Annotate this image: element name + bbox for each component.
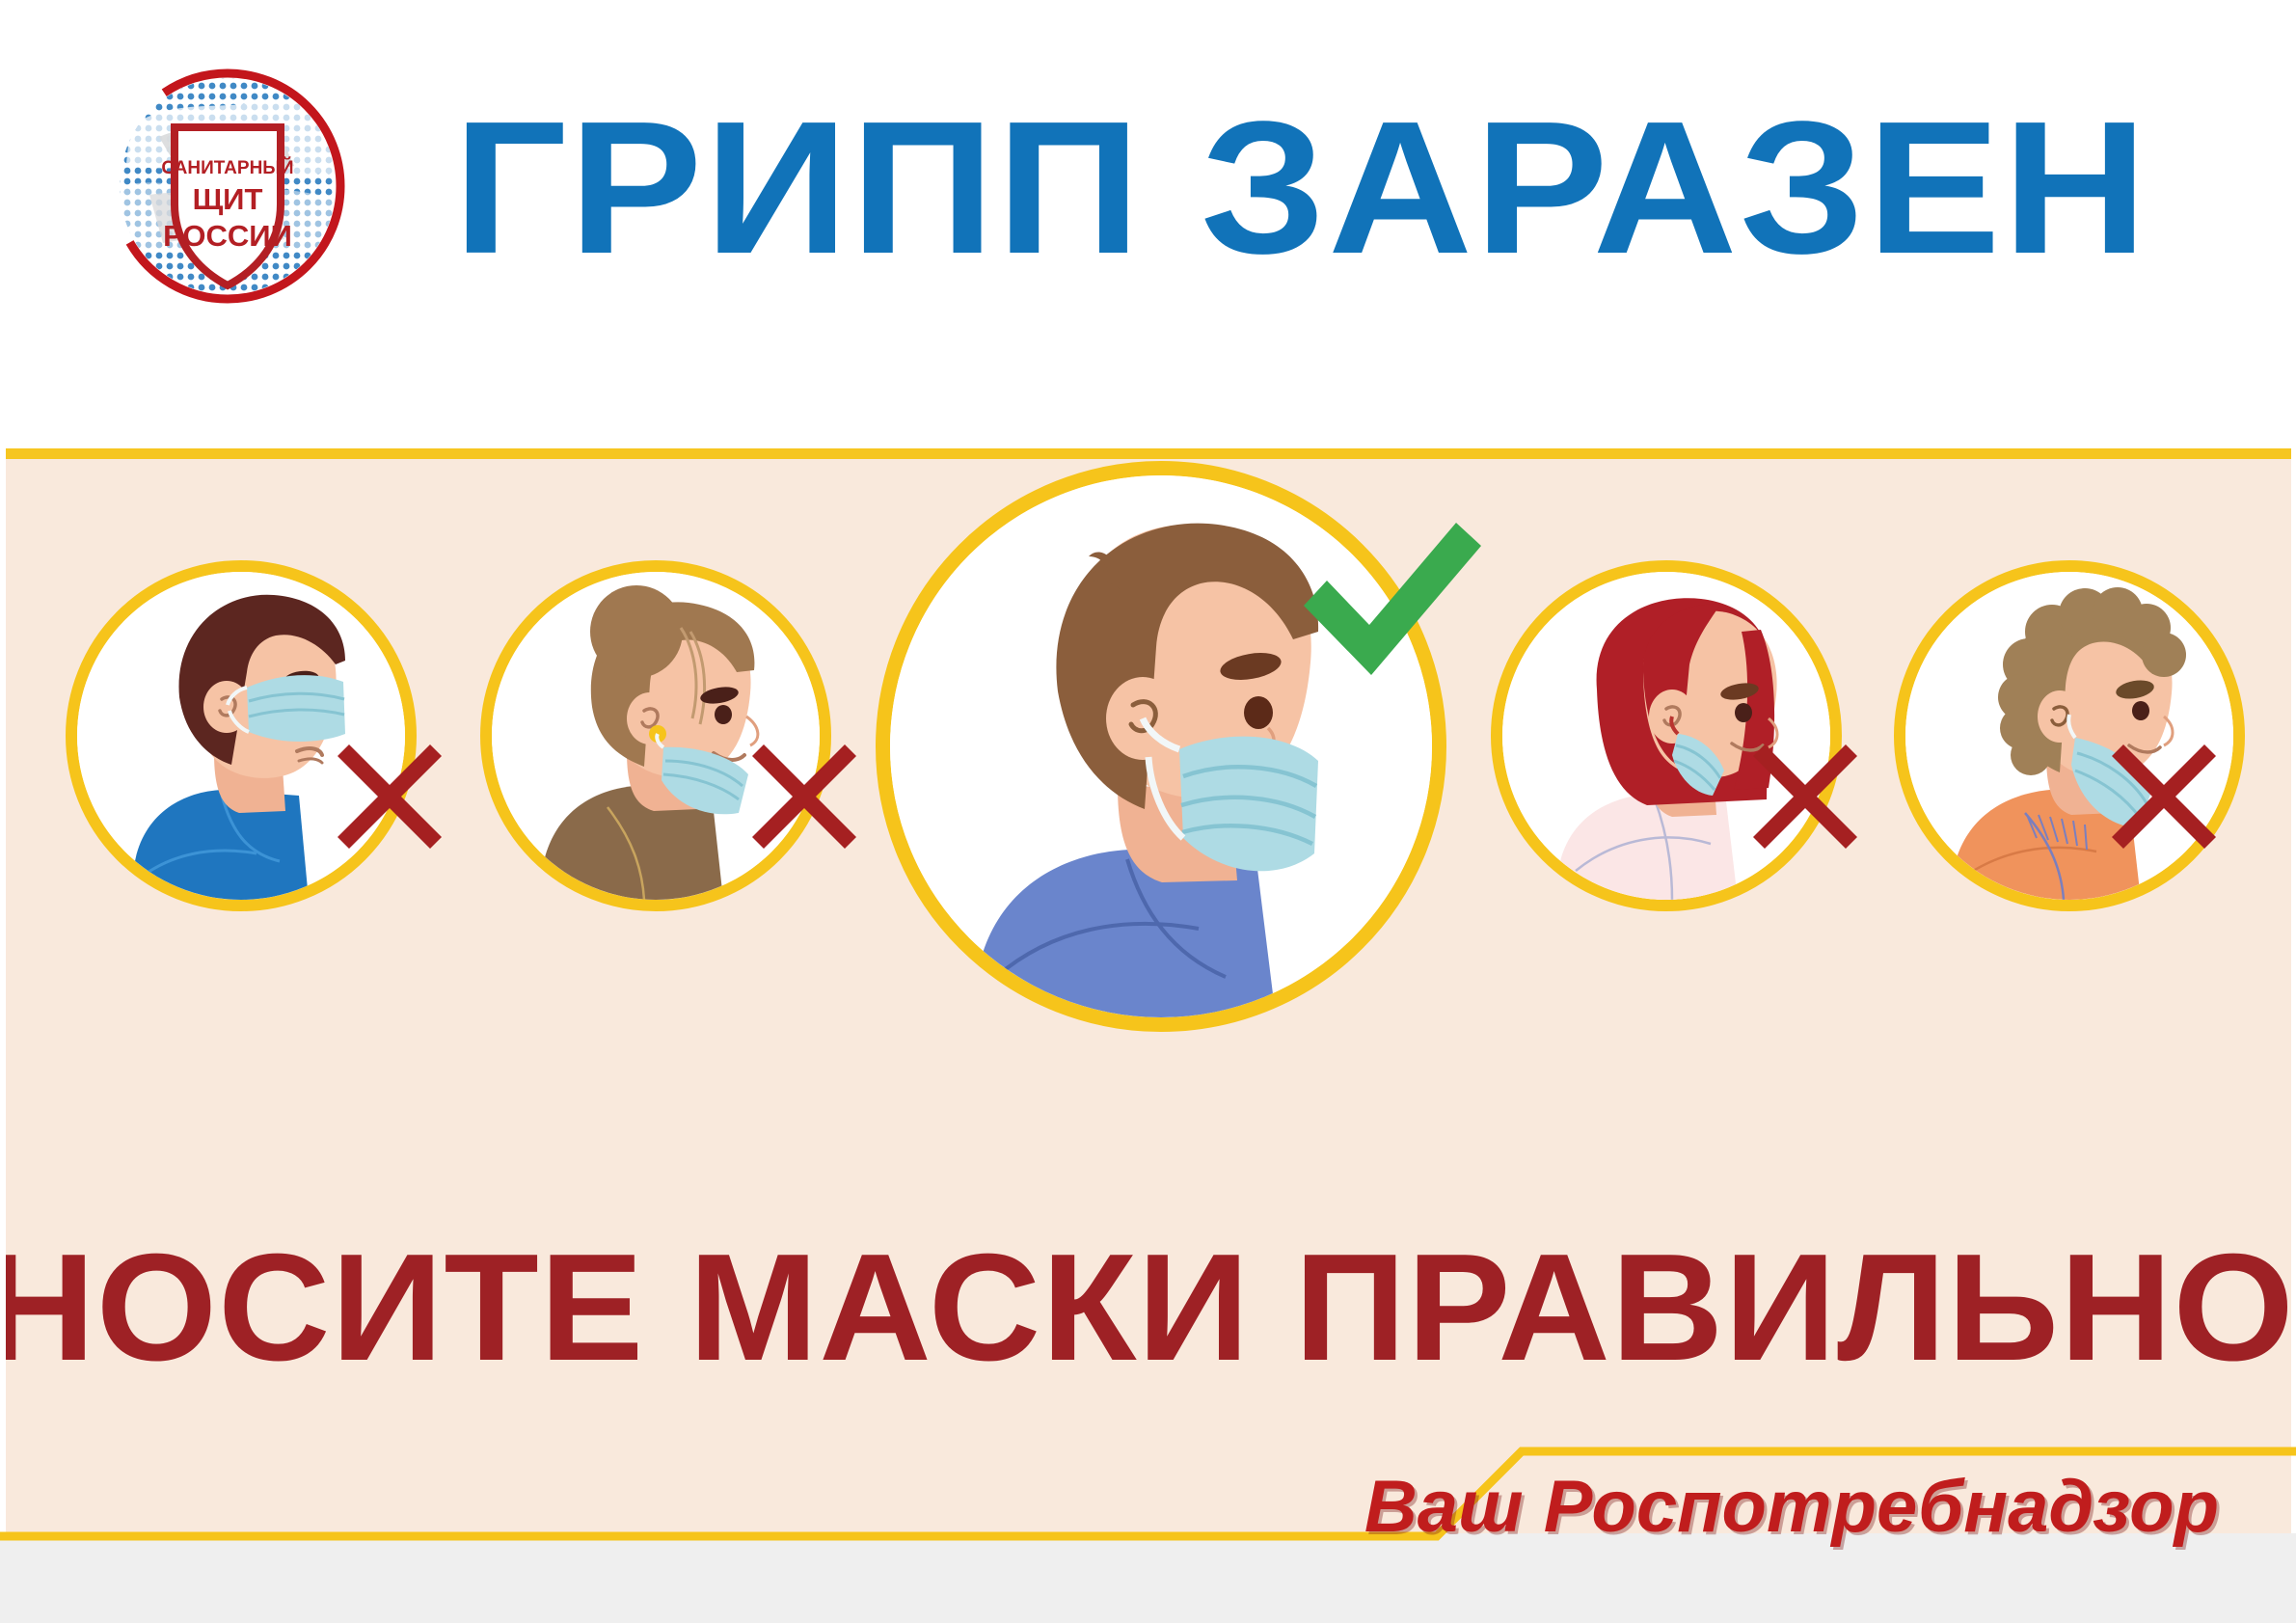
poster-root: САНИТАРНЫЙ ЩИТ РОССИИ ГРИПП ЗАРАЗЕН (0, 0, 2296, 1623)
x-icon (746, 739, 862, 854)
x-icon (1747, 739, 1863, 854)
example-mask-below-mouth (1894, 560, 2245, 911)
example-mask-hanging-on-ear (1491, 560, 1842, 911)
logo-line-3: РОССИИ (163, 219, 292, 253)
right-edge-margin (2291, 448, 2296, 1533)
page-title: ГРИПП ЗАРАЗЕН (453, 77, 2296, 299)
sanitary-shield-of-russia-logo: САНИТАРНЫЙ ЩИТ РОССИИ (101, 60, 354, 312)
header-divider (6, 448, 2291, 459)
check-icon (1294, 517, 1487, 686)
slogan-text: НОСИТЕ МАСКИ ПРАВИЛЬНО! (0, 1226, 2296, 1390)
example-mask-under-chin (480, 560, 831, 911)
example-mask-over-eyes (66, 560, 417, 911)
x-icon (332, 739, 447, 854)
logo-line-1: САНИТАРНЫЙ (161, 157, 293, 178)
left-edge-margin (0, 448, 6, 1533)
logo-line-2: ЩИТ (193, 182, 263, 216)
mask-examples-row (6, 459, 2291, 1076)
x-icon (2106, 739, 2222, 854)
poster-body: НОСИТЕ МАСКИ ПРАВИЛЬНО! (6, 459, 2291, 1533)
poster-header: САНИТАРНЫЙ ЩИТ РОССИИ ГРИПП ЗАРАЗЕН (0, 0, 2296, 448)
footer-text: Ваш Роспотребнадзор (1364, 1464, 2219, 1551)
